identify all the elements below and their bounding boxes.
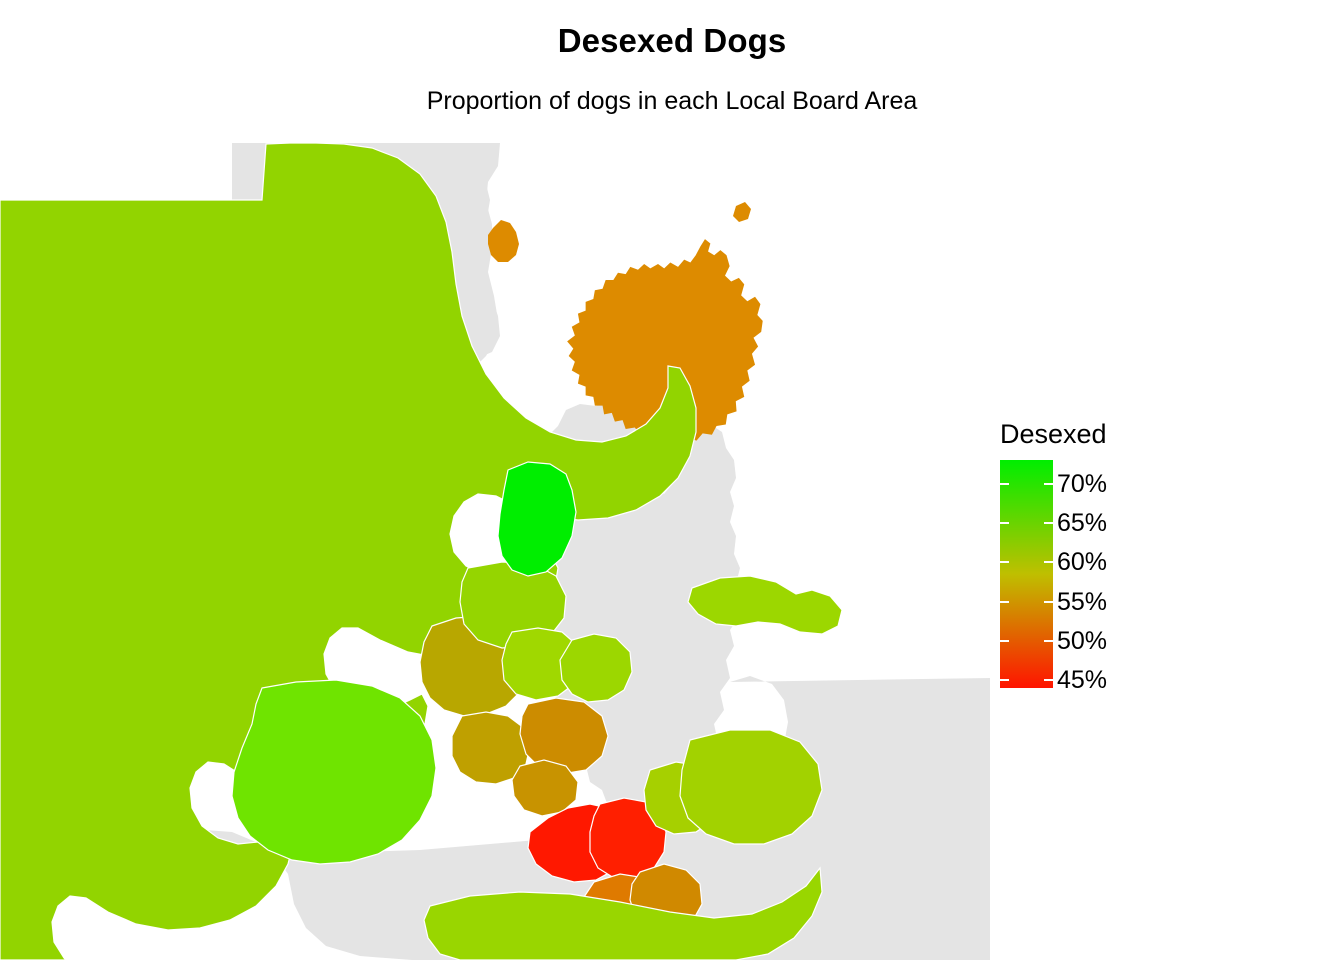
legend: Desexed 70%65%60%55%50%45%: [995, 410, 1165, 710]
legend-label-55: 55%: [1057, 589, 1107, 615]
legend-colorbar[interactable]: [1000, 460, 1053, 688]
legend-tick-labels: 70%65%60%55%50%45%: [1057, 460, 1157, 700]
legend-tick-right-50: [1044, 640, 1053, 642]
legend-gradient: [1000, 460, 1053, 688]
legend-tick-left-50: [1000, 640, 1009, 642]
legend-tick-right-45: [1044, 679, 1053, 681]
legend-tick-left-55: [1000, 601, 1009, 603]
map-area-howick[interactable]: [680, 730, 822, 844]
legend-tick-left-70: [1000, 483, 1009, 485]
page-subtitle: Proportion of dogs in each Local Board A…: [0, 86, 1344, 116]
legend-title: Desexed: [1000, 418, 1107, 450]
legend-tick-right-70: [1044, 483, 1053, 485]
map-svg-out: [0, 120, 990, 960]
legend-label-70: 70%: [1057, 471, 1107, 497]
legend-label-65: 65%: [1057, 510, 1107, 536]
auckland-map-final: [0, 120, 990, 960]
legend-tick-left-60: [1000, 561, 1009, 563]
legend-tick-right-60: [1044, 561, 1053, 563]
legend-tick-right-65: [1044, 522, 1053, 524]
legend-label-50: 50%: [1057, 628, 1107, 654]
legend-tick-left-45: [1000, 679, 1009, 681]
page-title: Desexed Dogs: [0, 22, 1344, 60]
legend-label-45: 45%: [1057, 667, 1107, 693]
plot-canvas: Desexed Dogs Proportion of dogs in each …: [0, 0, 1344, 960]
map-area-devonport-takapuna[interactable]: [560, 634, 632, 702]
map-area-waitakere-ranges[interactable]: [232, 680, 436, 864]
legend-tick-right-55: [1044, 601, 1053, 603]
legend-tick-left-65: [1000, 522, 1009, 524]
legend-label-60: 60%: [1057, 549, 1107, 575]
